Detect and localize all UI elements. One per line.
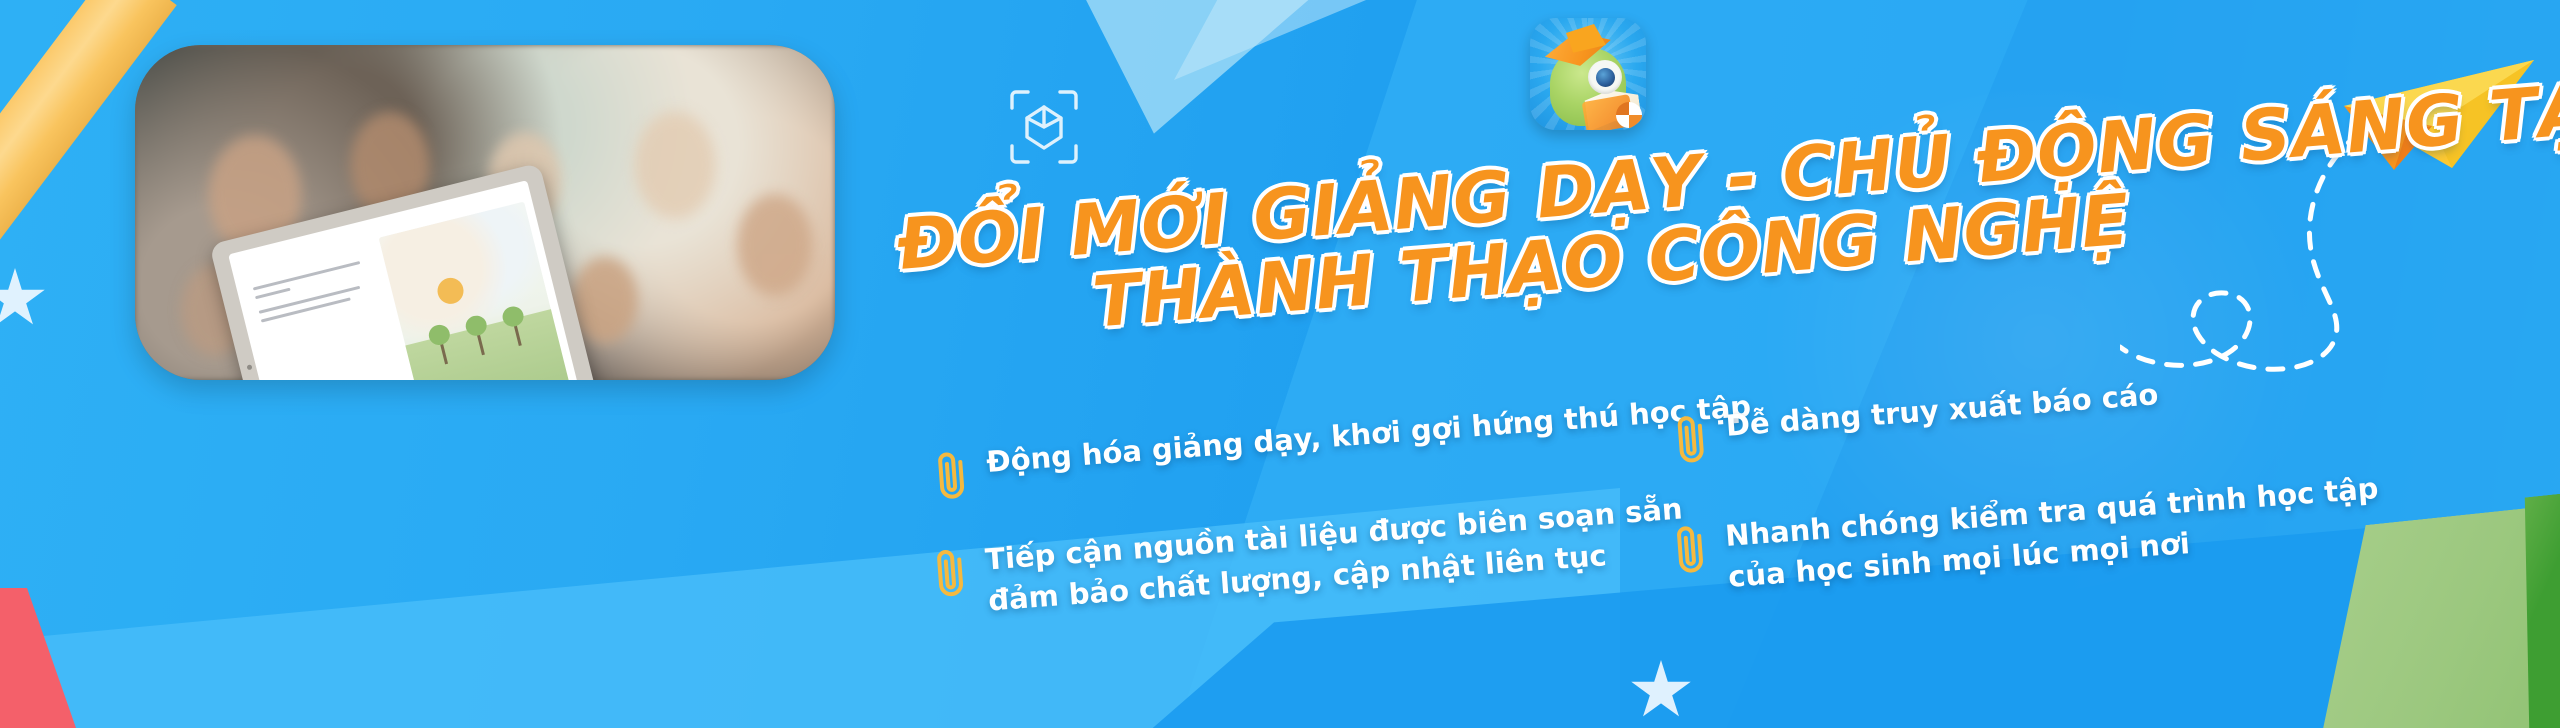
logo-pupil — [1596, 68, 1615, 87]
feature-label: Động hóa giảng dạy, khơi gợi hứng thú họ… — [985, 386, 1752, 483]
sun-icon — [435, 275, 467, 307]
paperclip-icon — [1669, 411, 1713, 466]
paperclip-icon — [1668, 521, 1712, 576]
paperclip-icon — [929, 447, 973, 502]
star-icon — [0, 268, 46, 330]
app-logo-chameleon-graduate[interactable] — [1530, 18, 1646, 130]
feature-item-materials: Tiếp cận nguồn tài liệu được biên soạn s… — [928, 488, 1687, 625]
tablet-camera-dot — [246, 364, 252, 370]
slide-ground — [405, 310, 572, 380]
paperclip-icon — [928, 545, 972, 600]
logo-swirl — [1616, 102, 1642, 128]
feature-item-engagement: Động hóa giảng dạy, khơi gợi hứng thú họ… — [929, 386, 1753, 502]
feature-list: Động hóa giảng dạy, khơi gợi hứng thú họ… — [930, 398, 2450, 648]
slide-illustration — [378, 201, 572, 380]
slide-text-lines — [253, 259, 380, 329]
feature-label: Tiếp cận nguồn tài liệu được biên soạn s… — [984, 488, 1687, 621]
classroom-tablet-photo — [135, 45, 835, 380]
promo-banner: ĐỔI MỚI GIẢNG DẠY - CHỦ ĐỘNG SÁNG TẠO TH… — [0, 0, 2560, 728]
cube-scan-icon — [1008, 88, 1080, 166]
feature-item-tracking: Nhanh chóng kiểm tra quá trình học tập c… — [1668, 468, 2383, 602]
feature-label: Nhanh chóng kiểm tra quá trình học tập c… — [1724, 468, 2383, 598]
